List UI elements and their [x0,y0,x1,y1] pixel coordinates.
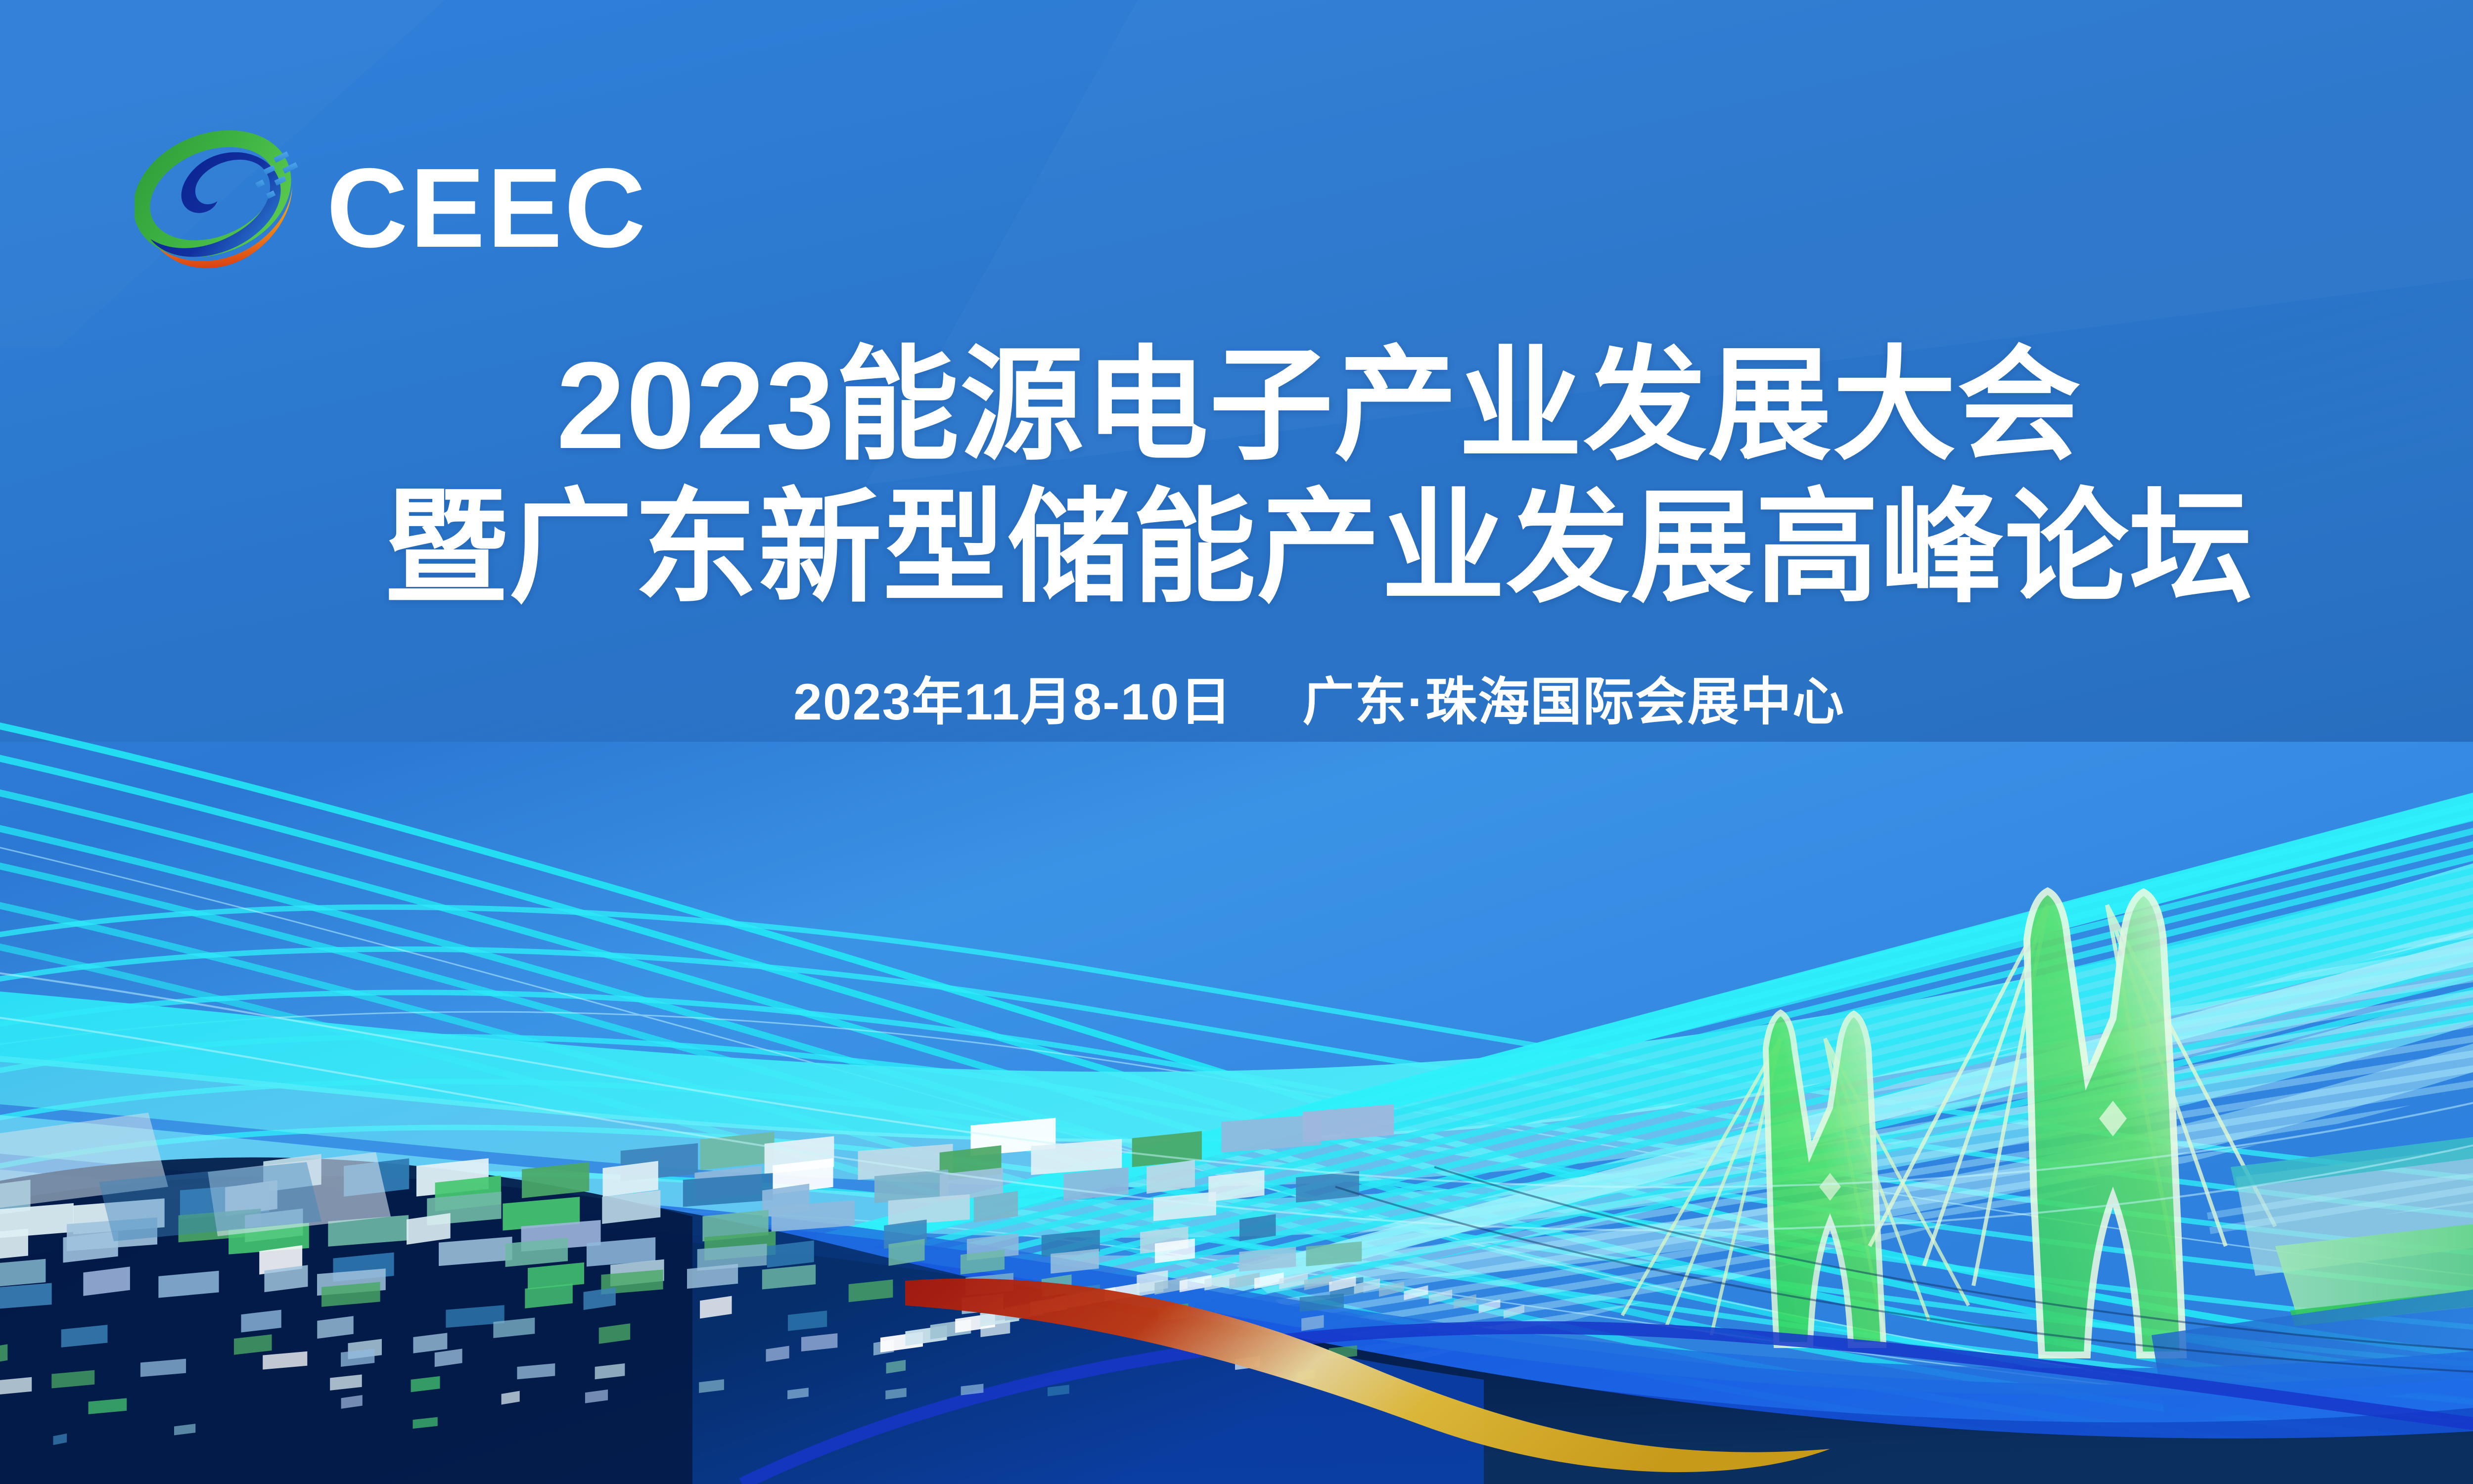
brand-lockup[interactable]: CEEC [135,118,647,286]
event-venue: 广东·珠海国际会展中心 [1302,674,1845,731]
headline-block: 2023能源电子产业发展大会 暨广东新型储能产业发展高峰论坛 2023年11月8… [0,341,2473,734]
poster-canvas: CEEC 2023能源电子产业发展大会 暨广东新型储能产业发展高峰论坛 2023… [0,0,2473,1484]
ceec-wordmark: CEEC [326,139,647,265]
ceec-swirl-logo-icon [135,118,303,286]
event-date: 2023年11月8-10日 [793,674,1232,731]
event-title-line-1: 2023能源电子产业发展大会 [0,341,2473,470]
event-info-line: 2023年11月8-10日 广东·珠海国际会展中心 [0,660,2473,734]
event-title-line-2: 暨广东新型储能产业发展高峰论坛 [0,484,2473,612]
